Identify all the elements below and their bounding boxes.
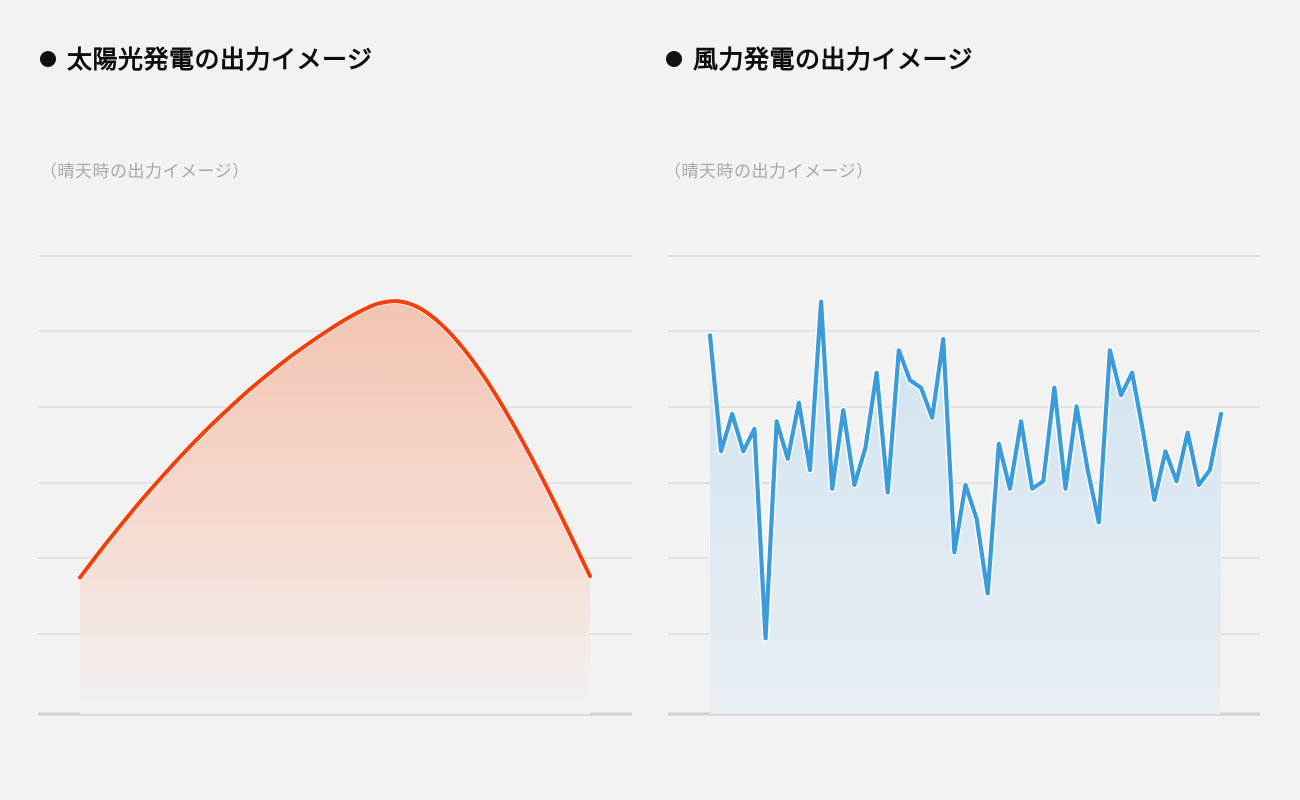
panel-wind-title: 風力発電の出力イメージ — [666, 40, 973, 76]
panel-solar: 太陽光発電の出力イメージ （晴天時の出力イメージ） — [0, 0, 650, 800]
panel-solar-title: 太陽光発電の出力イメージ — [40, 40, 373, 76]
page-root: 太陽光発電の出力イメージ （晴天時の出力イメージ） 風力発電の出力イメージ （晴… — [0, 0, 1300, 800]
filled-circle-bullet-icon — [40, 51, 56, 67]
panel-wind: 風力発電の出力イメージ — [650, 0, 1300, 800]
filled-circle-bullet-icon — [666, 51, 682, 67]
panel-solar-title-text: 太陽光発電の出力イメージ — [67, 40, 373, 76]
panel-wind-title-text: 風力発電の出力イメージ — [693, 40, 973, 76]
panel-wind-subtitle: （晴天時の出力イメージ） — [664, 157, 874, 182]
panel-solar-subtitle: （晴天時の出力イメージ） — [40, 157, 250, 182]
